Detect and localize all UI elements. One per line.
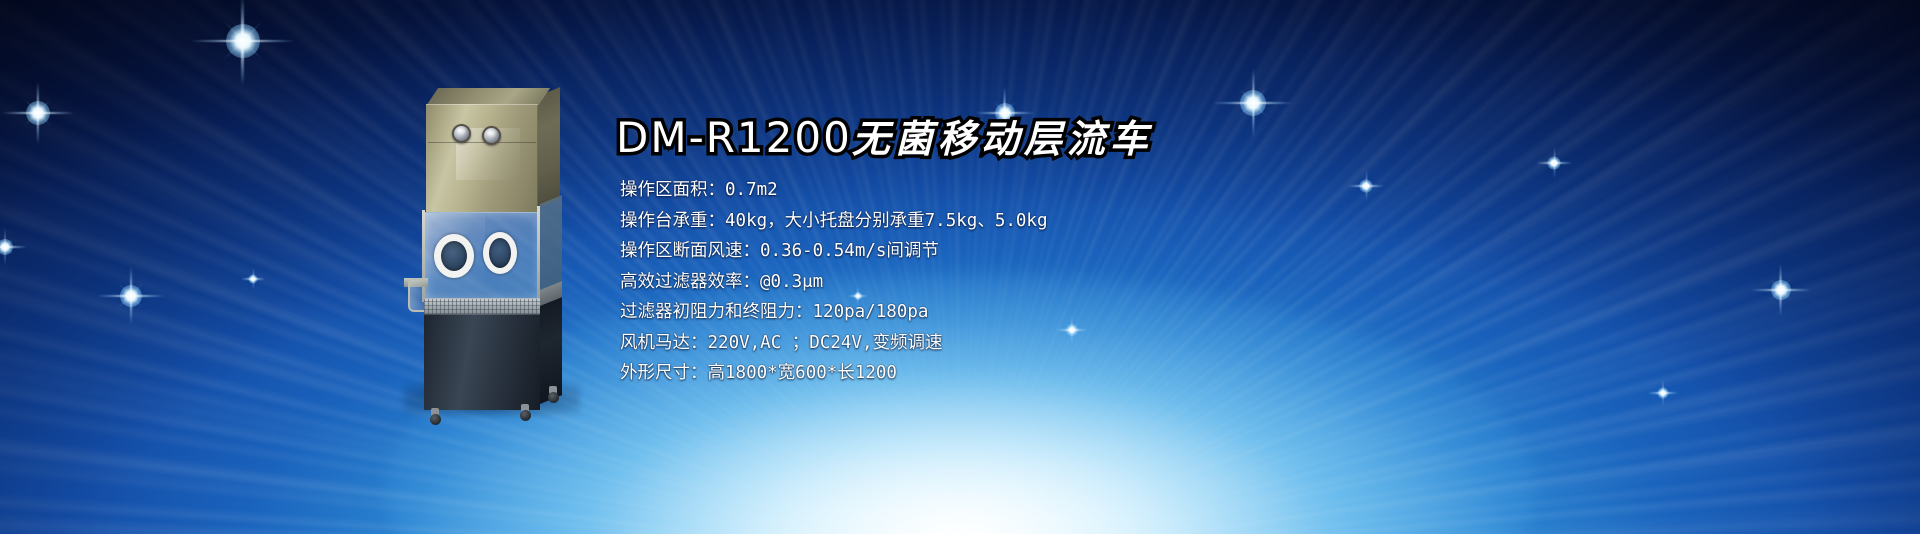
specification-list: 操作区面积：0.7m2 操作台承重：40kg，大小托盘分别承重7.5kg、5.0… — [620, 175, 1400, 389]
pressure-gauge-left — [452, 124, 471, 143]
gauge-glass-reflection — [487, 130, 495, 136]
sparkle-ray — [118, 283, 144, 309]
sparkle-ray — [242, 0, 245, 86]
sparkle-ray — [1780, 264, 1782, 316]
product-image-laminar-flow-cart — [398, 82, 580, 412]
sparkle-left-upper — [0, 74, 77, 152]
product-banner: DM-R1200无菌移动层流车 DM-R1200无菌移动层流车 操作区面积：0.… — [0, 0, 1920, 534]
product-title-fill: DM-R1200无菌移动层流车 — [616, 114, 1153, 161]
gauge-glass-reflection — [457, 128, 465, 134]
glove-port-right — [483, 232, 517, 274]
caster-wheel — [546, 386, 560, 404]
sparkle-ray — [1553, 148, 1554, 179]
hood-seam-line — [428, 142, 536, 143]
hood-side-panel — [538, 87, 560, 208]
spec-line-air-velocity: 操作区断面风速：0.36-0.54m/s间调节 — [620, 236, 1400, 267]
spec-line-filter-resistance: 过滤器初阻力和终阻力：120pa/180pa — [620, 297, 1400, 328]
sparkle-core — [249, 275, 258, 284]
sparkle-core — [1240, 90, 1266, 116]
sparkle-ray — [37, 82, 39, 144]
sparkle-ray — [1648, 392, 1678, 393]
sparkle-ray — [0, 239, 13, 256]
sparkle-core — [0, 239, 13, 255]
spec-line-fan-motor: 风机马达：220V,AC ；DC24V,变频调速 — [620, 328, 1400, 359]
sparkle-core — [120, 285, 142, 307]
sparkle-ray — [4, 228, 5, 266]
sparkle-bottom-right — [1645, 375, 1681, 411]
sparkle-ray — [1536, 162, 1572, 163]
spec-line-work-area: 操作区面积：0.7m2 — [620, 175, 1400, 206]
sparkle-core — [1548, 157, 1561, 170]
product-title-latin: DM-R1200 — [616, 113, 852, 162]
sparkle-ray — [130, 267, 132, 325]
hood-front-panel — [426, 104, 538, 212]
sparkle-right-upper — [1210, 60, 1296, 146]
caster-wheel — [428, 408, 442, 426]
sparkle-ray — [224, 21, 263, 60]
spec-line-filter-efficiency: 高效过滤器效率：@0.3μm — [620, 267, 1400, 298]
sparkle-ray — [1238, 88, 1268, 118]
sparkle-ray — [0, 246, 27, 247]
perforated-work-deck — [424, 298, 540, 314]
sparkle-ray — [1770, 279, 1793, 302]
sparkle-ray — [2, 112, 74, 114]
sparkle-ray — [1770, 279, 1793, 302]
sparkle-left-edge — [0, 222, 30, 272]
sparkle-core — [26, 101, 50, 125]
sparkle-ray — [24, 99, 51, 126]
sparkle-left-lower — [94, 259, 168, 333]
caster-tire — [548, 392, 559, 403]
pressure-gauge-right — [482, 126, 501, 145]
chamber-frame-right — [537, 206, 540, 298]
sparkle-ray — [1751, 289, 1811, 291]
sparkle-ray — [24, 99, 51, 126]
sparkle-ray — [241, 278, 265, 279]
sparkle-ray — [0, 239, 13, 256]
sparkle-right-small — [1533, 142, 1575, 184]
sparkle-ray — [1238, 88, 1268, 118]
product-title-cjk: 无菌移动层流车 — [852, 116, 1153, 161]
cabinet-front-panel — [424, 314, 540, 410]
sparkle-ray — [118, 283, 144, 309]
glove-port-left — [434, 234, 474, 278]
sparkle-right-lower — [1748, 257, 1814, 323]
caster-tire — [520, 410, 531, 421]
sparkle-ray — [97, 295, 165, 297]
sparkle-core — [1658, 388, 1669, 399]
sparkle-ray — [252, 269, 253, 290]
caster-tire — [430, 414, 441, 425]
sparkle-ray — [191, 40, 295, 43]
caster-wheel — [518, 404, 532, 422]
sparkle-dot-a — [238, 264, 268, 294]
product-title: DM-R1200无菌移动层流车 DM-R1200无菌移动层流车 — [616, 113, 1153, 164]
chamber-side-panel — [540, 195, 562, 294]
sparkle-ray — [224, 21, 263, 60]
sparkle-top-left — [188, 0, 298, 96]
sparkle-core — [226, 24, 260, 58]
spec-line-dimensions: 外形尺寸：高1800*宽600*长1200 — [620, 358, 1400, 389]
sparkle-core — [1771, 280, 1791, 300]
sparkle-ray — [1252, 69, 1254, 138]
spec-line-load-capacity: 操作台承重：40kg，大小托盘分别承重7.5kg、5.0kg — [620, 206, 1400, 237]
sparkle-ray — [1662, 380, 1663, 406]
sparkle-ray — [1213, 102, 1293, 104]
